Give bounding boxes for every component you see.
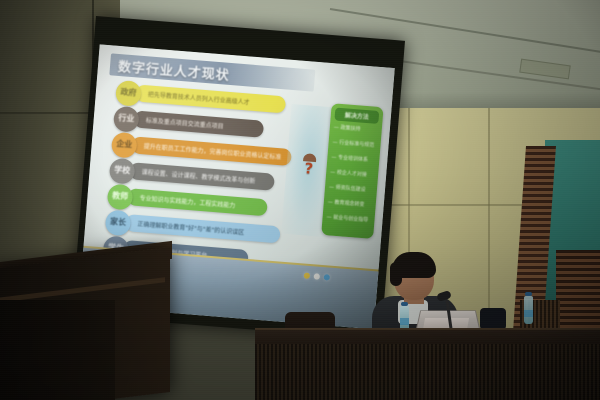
podium-side xyxy=(0,300,115,400)
slide-row-badge-label: 学校 xyxy=(109,164,135,177)
slide-row-badge-label: 政府 xyxy=(116,86,142,99)
question-mark-icon: ? xyxy=(304,161,317,176)
footer-dot xyxy=(304,273,310,279)
wall-panel-seam xyxy=(488,108,490,338)
slide-row-badge-label: 家长 xyxy=(105,215,131,228)
bottle-label xyxy=(400,318,409,325)
footer-dot xyxy=(324,274,330,280)
footer-dot xyxy=(314,273,320,279)
slide-row-badge-label: 行业 xyxy=(113,112,139,125)
solution-panel: 解决方法 — 政策扶持— 行业标准与规范— 专业培训体系— 校企人才对接— 师资… xyxy=(321,103,383,239)
slide-row-badge-label: 教师 xyxy=(107,190,133,203)
solution-item: — 就业与创业指导 xyxy=(326,213,372,224)
solution-item-list: — 政策扶持— 行业标准与规范— 专业培训体系— 校企人才对接— 师资队伍建设—… xyxy=(332,103,384,107)
solution-item: — 专业培训体系 xyxy=(331,153,377,164)
presenter-hair-side xyxy=(390,262,402,286)
wood-slat-panel xyxy=(556,250,600,340)
slide-row-badge-label: 企业 xyxy=(111,138,137,151)
bottle-label xyxy=(524,310,533,317)
solution-item: — 教育观念转变 xyxy=(328,198,374,209)
table-front-panel xyxy=(255,344,600,400)
solution-item: — 政策扶持 xyxy=(334,123,380,134)
solution-item: — 师资队伍建设 xyxy=(329,183,375,194)
bag xyxy=(480,308,506,330)
lecture-hall-photo: 数字行业人才现状 政府把先导教育技术人员列入行业高级人才行业标准及重点项目交流重… xyxy=(0,0,600,400)
solution-item: — 行业标准与规范 xyxy=(332,138,378,149)
bottle-cap-icon xyxy=(401,302,408,306)
bottle-cap-icon xyxy=(525,292,532,296)
solution-item: — 校企人才对接 xyxy=(330,168,376,179)
